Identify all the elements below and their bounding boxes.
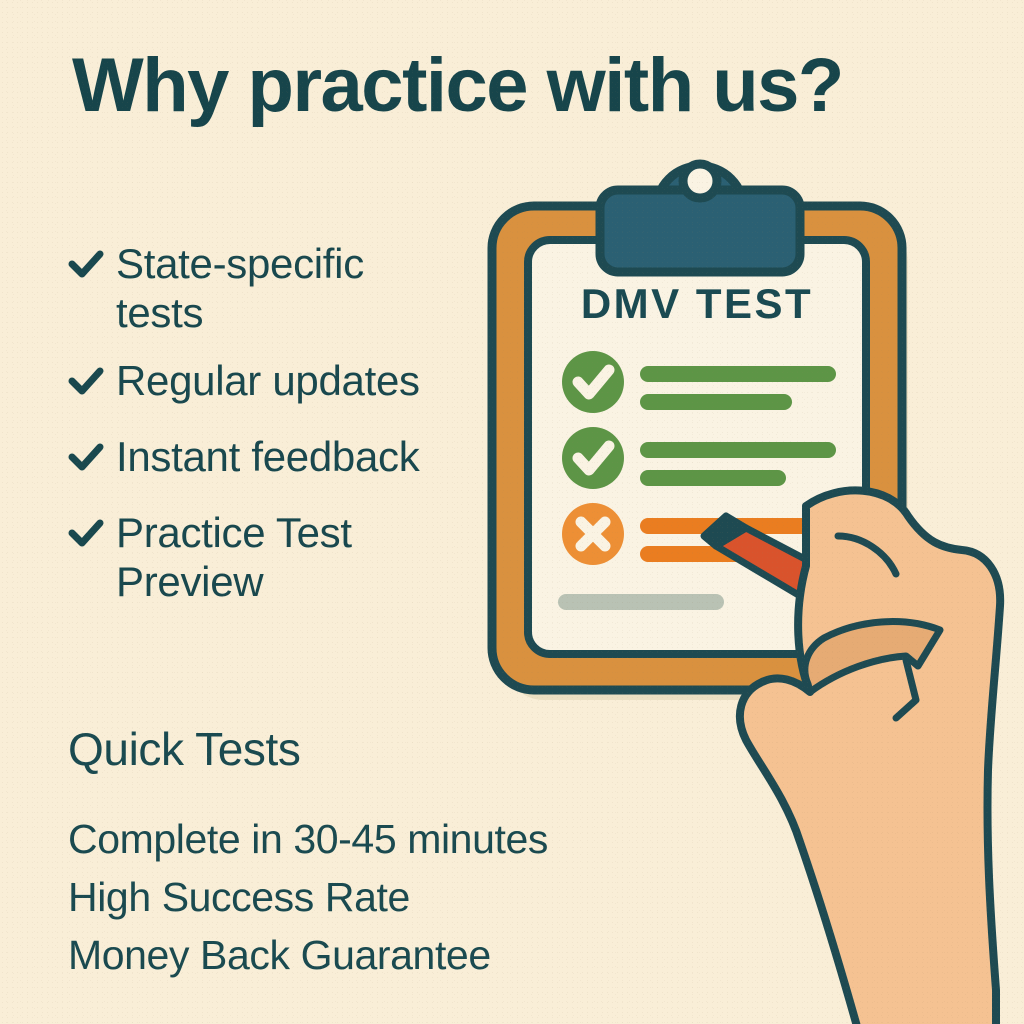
quick-tests-section: Quick Tests Complete in 30-45 minutes Hi…: [68, 726, 708, 985]
poster-canvas: Why practice with us? State-specific tes…: [0, 0, 1024, 1024]
benefit-label: Regular updates: [116, 357, 420, 406]
quick-tests-line: Complete in 30-45 minutes: [68, 810, 708, 868]
quick-tests-line: High Success Rate: [68, 868, 708, 926]
list-item: State-specific tests: [66, 240, 536, 337]
hand-with-pencil-illustration: [690, 470, 1024, 1024]
clip-hole-icon: [683, 164, 717, 198]
page-title: Why practice with us?: [72, 48, 972, 124]
benefit-label: Instant feedback: [116, 433, 419, 482]
check-icon: [66, 509, 106, 565]
quick-tests-line: Money Back Guarantee: [68, 926, 708, 984]
list-item: Instant feedback: [66, 433, 536, 489]
quick-tests-heading: Quick Tests: [68, 726, 708, 772]
check-icon: [66, 240, 106, 296]
check-icon: [66, 357, 106, 413]
benefits-list: State-specific tests Regular updates Ins…: [66, 240, 536, 627]
benefit-label: State-specific tests: [116, 240, 364, 337]
check-icon: [66, 433, 106, 489]
clipboard-title: DMV TEST: [581, 280, 813, 327]
benefit-label: Practice Test Preview: [116, 509, 352, 606]
list-item: Practice Test Preview: [66, 509, 536, 606]
list-item: Regular updates: [66, 357, 536, 413]
